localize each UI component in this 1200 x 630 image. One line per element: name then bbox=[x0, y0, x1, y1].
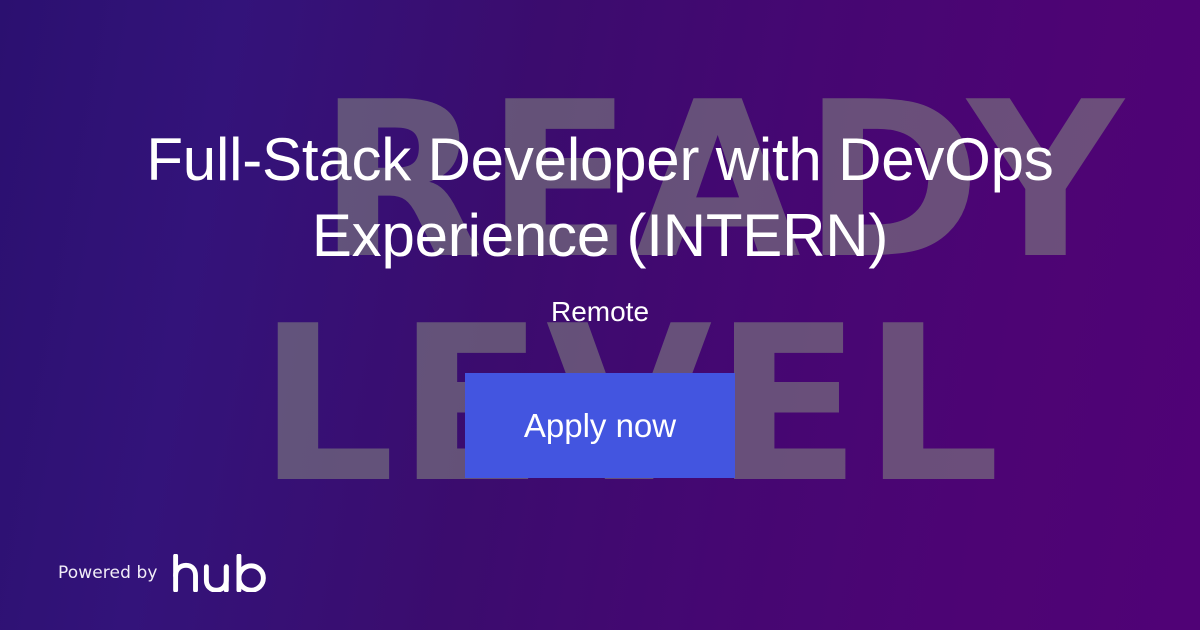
hub-wordmark-logo bbox=[172, 554, 279, 592]
powered-by-label: Powered by bbox=[58, 563, 158, 583]
job-title: Full-Stack Developer with DevOps Experie… bbox=[0, 122, 1200, 273]
job-location: Remote bbox=[551, 295, 649, 329]
apply-now-button[interactable]: Apply now bbox=[465, 373, 735, 478]
powered-by-lockup: Powered by bbox=[58, 554, 278, 592]
job-posting-card: READY LEVEL Full-Stack Developer with De… bbox=[0, 0, 1200, 630]
card-content: Full-Stack Developer with DevOps Experie… bbox=[0, 0, 1200, 630]
